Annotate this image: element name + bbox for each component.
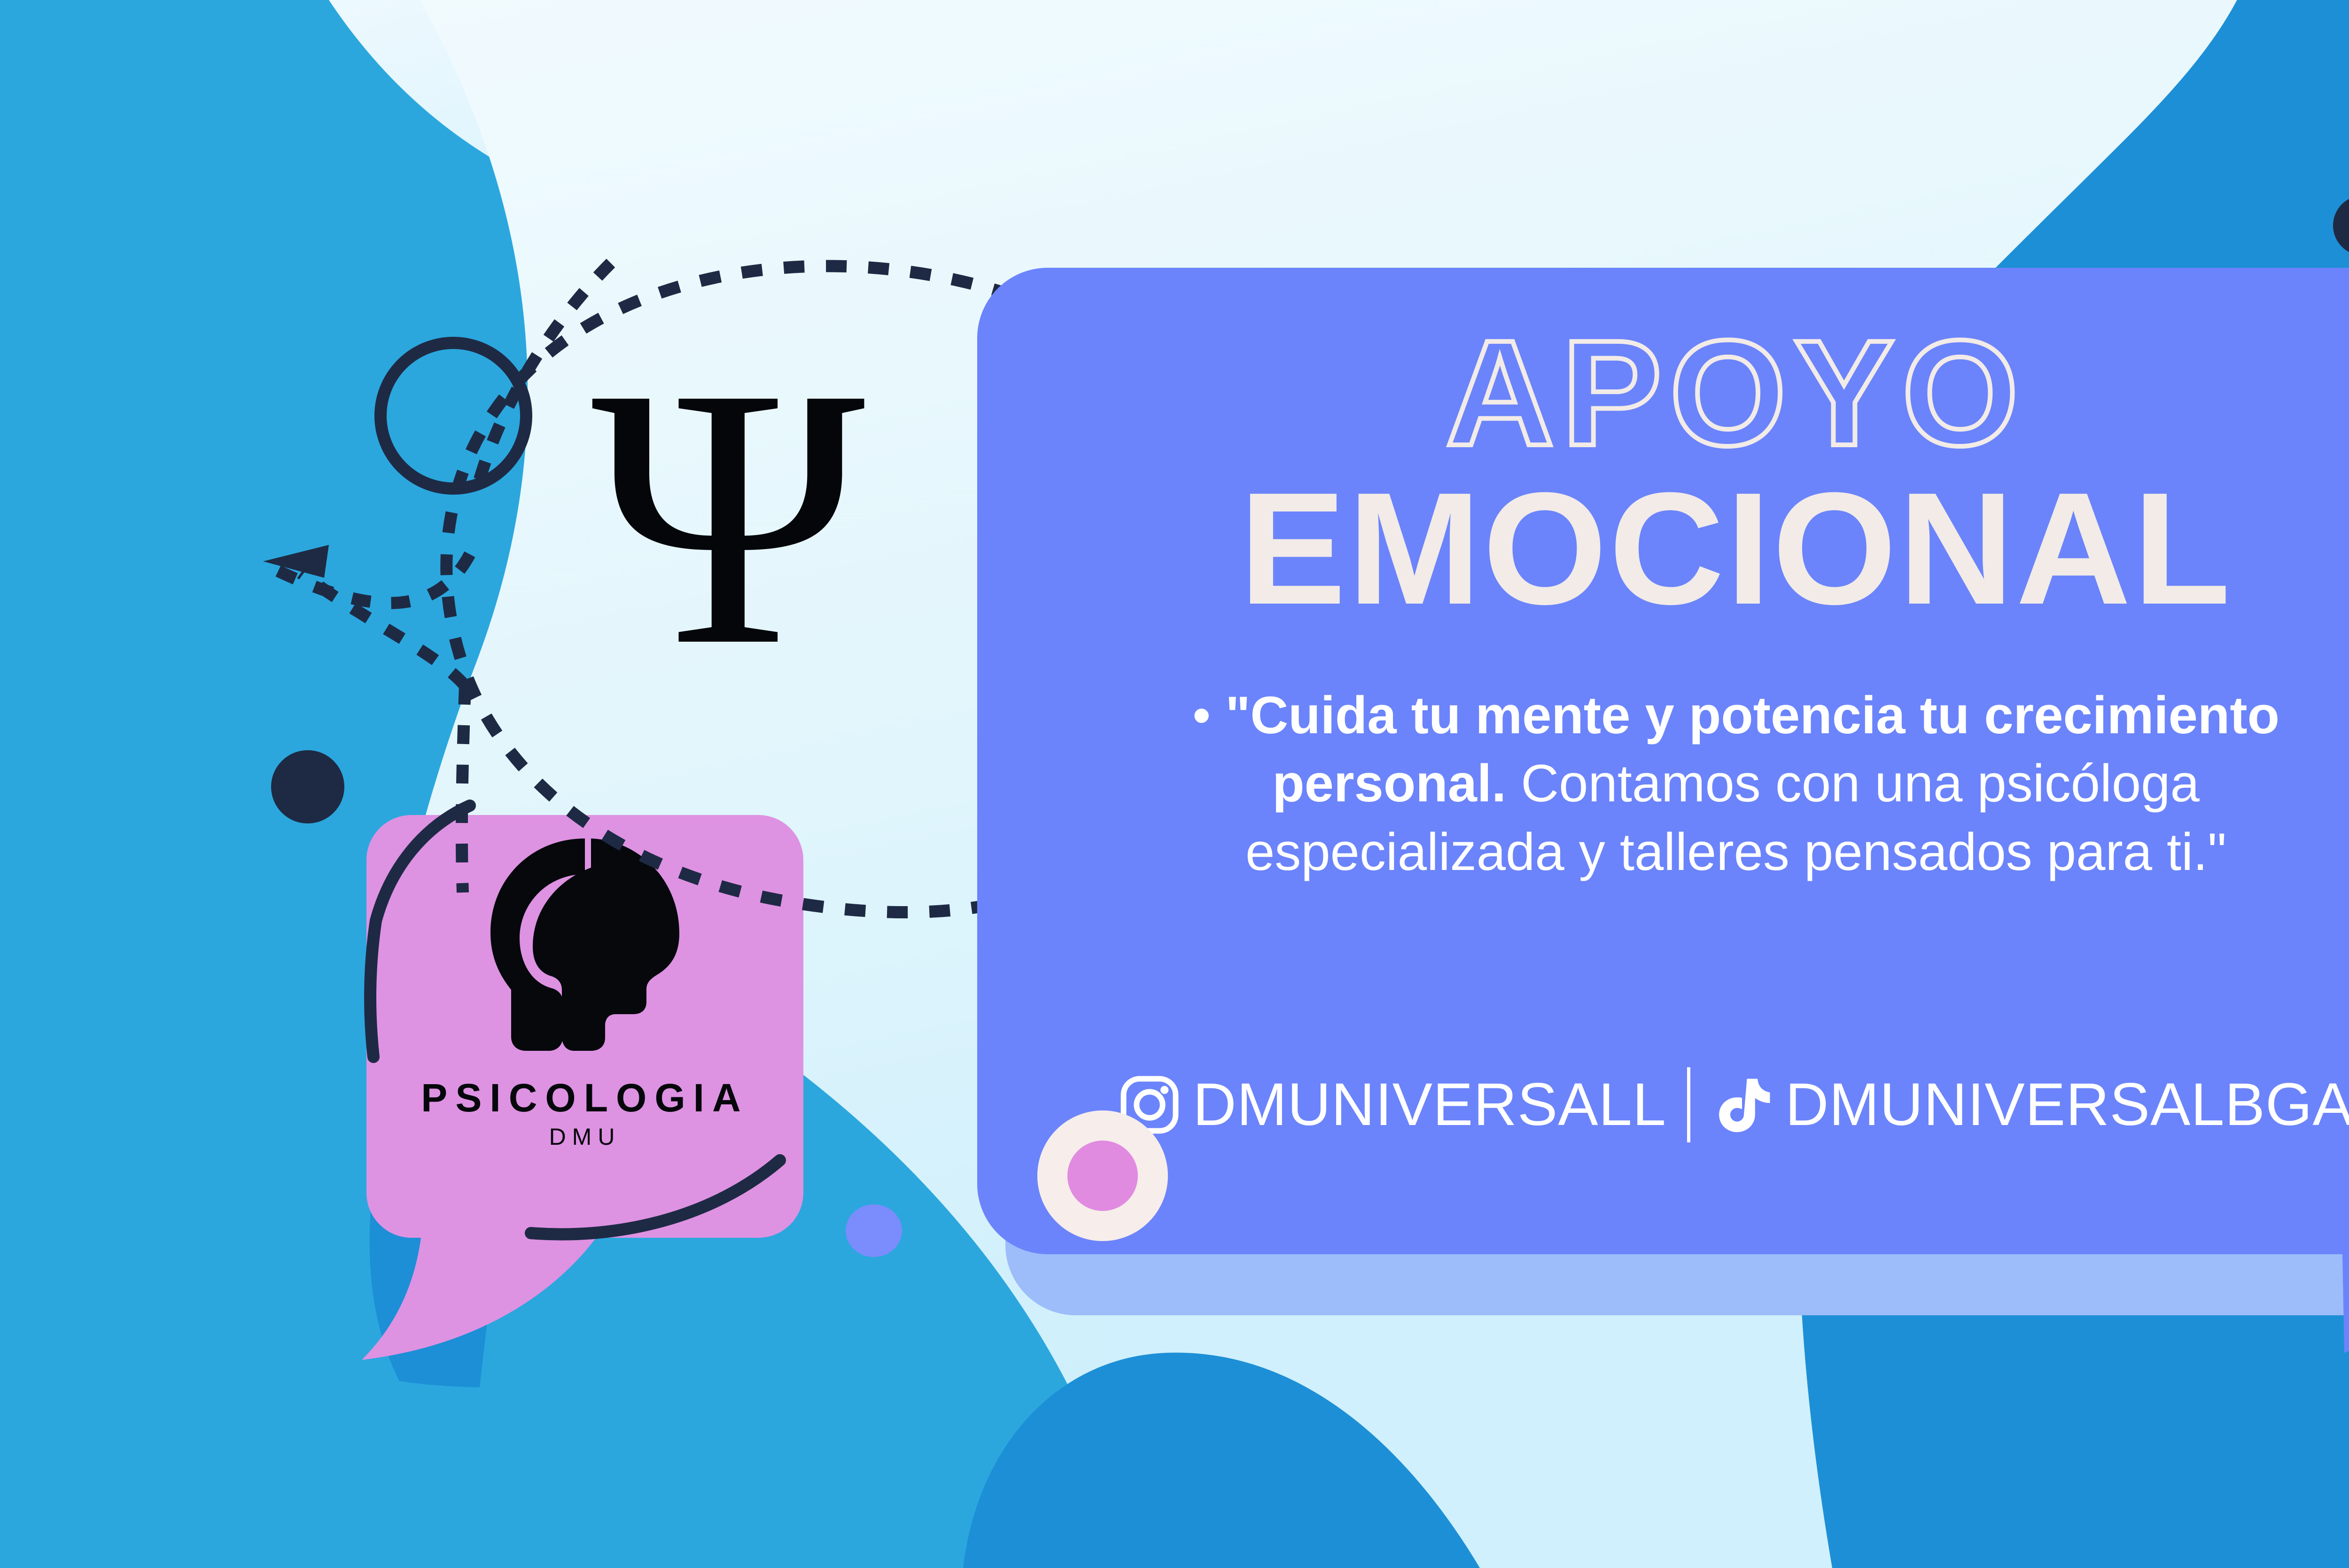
tiktok-handle: DMUNIVERSALBGA <box>1785 1075 2349 1135</box>
logo-subtitle: DMU <box>366 1125 803 1149</box>
logo-text: PSICOLOGIA DMU <box>366 1078 803 1149</box>
instagram-handle: DMUNIVERSALL <box>1193 1075 1666 1135</box>
logo-badge: PSICOLOGIA DMU <box>366 815 803 1238</box>
main-message-bubble: APOYO EMOCIONAL • "Cuida tu mente y pote… <box>977 268 2349 1254</box>
instagram-link[interactable]: DMUNIVERSALL <box>1119 1074 1666 1136</box>
social-divider <box>1687 1067 1690 1142</box>
psi-symbol-icon: Ψ <box>554 329 902 705</box>
dot-accent-core <box>1067 1141 1138 1211</box>
headline-primary: APOYO <box>1446 319 2026 467</box>
headline-secondary: EMOCIONAL <box>1239 469 2232 629</box>
body-copy: • "Cuida tu mente y potencia tu crecimie… <box>1116 681 2349 886</box>
logo-title: PSICOLOGIA <box>366 1078 803 1118</box>
promotional-banner: Ψ PSICOLOGIA DMU <box>0 0 2349 1568</box>
tiktok-link[interactable]: DMUNIVERSALBGA <box>1711 1074 2349 1136</box>
social-row: DMUNIVERSALL DMUNIVERSALBGA <box>977 1067 2349 1142</box>
head-profile-icon <box>474 835 695 1056</box>
tiktok-icon[interactable] <box>1711 1074 1773 1136</box>
dot-accent <box>1037 1110 1168 1241</box>
body-bullet: • <box>1192 686 1211 745</box>
